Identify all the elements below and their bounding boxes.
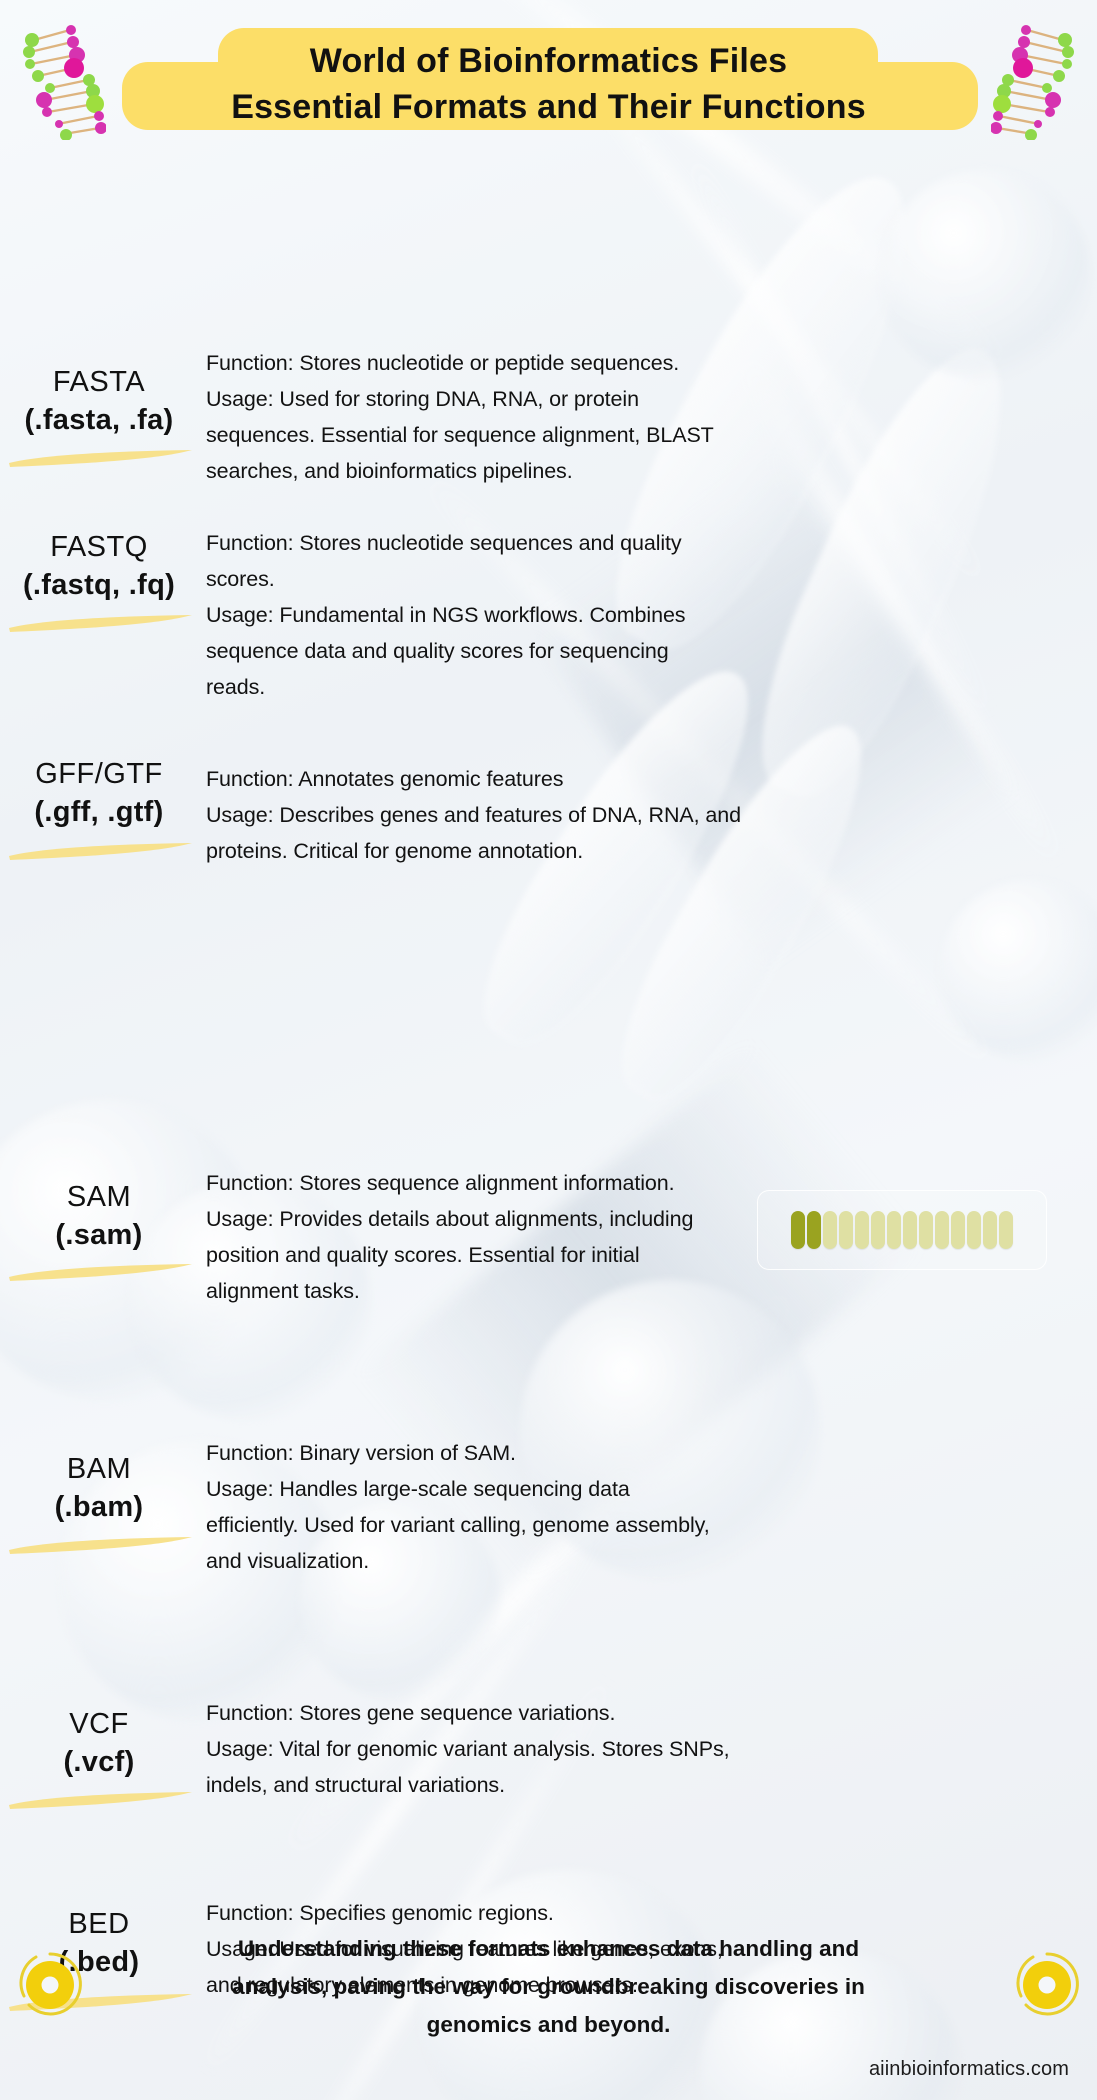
page-title-line2: Essential Formats and Their Functions <box>0 82 1097 132</box>
desc-line: and visualization. <box>206 1543 818 1579</box>
desc-line: Usage: Handles large-scale sequencing da… <box>206 1471 818 1507</box>
gel-well <box>839 1211 853 1249</box>
desc-line: proteins. Critical for genome annotation… <box>206 833 818 869</box>
desc-line: sequences. Essential for sequence alignm… <box>206 417 818 453</box>
desc-line: Function: Stores gene sequence variation… <box>206 1695 818 1731</box>
gel-well <box>935 1211 949 1249</box>
gel-well <box>999 1211 1013 1249</box>
desc-line: Function: Binary version of SAM. <box>206 1435 818 1471</box>
format-extension: (.vcf) <box>0 1743 198 1781</box>
format-description: Function: Binary version of SAM. Usage: … <box>206 1435 818 1579</box>
desc-line: Function: Stores nucleotide or peptide s… <box>206 345 818 381</box>
gel-well <box>823 1211 837 1249</box>
gel-well <box>967 1211 981 1249</box>
desc-line: Function: Annotates genomic features <box>206 761 818 797</box>
format-extension: (.fastq, .fq) <box>0 566 198 604</box>
gel-well <box>951 1211 965 1249</box>
ring-target-icon <box>14 1948 86 2020</box>
gel-well <box>919 1211 933 1249</box>
highlight-underline <box>6 612 196 634</box>
desc-line: searches, and bioinformatics pipelines. <box>206 453 818 489</box>
format-description: Function: Stores nucleotide sequences an… <box>206 525 818 705</box>
format-label-block: FASTQ (.fastq, .fq) <box>0 528 198 604</box>
format-section-fasta: FASTA (.fasta, .fa) Function: Stores nuc… <box>0 345 1097 515</box>
format-section-gff-gtf: GFF/GTF (.gff, .gtf) Function: Annotates… <box>0 755 1097 905</box>
format-description: Function: Stores nucleotide or peptide s… <box>206 345 818 489</box>
format-name: FASTQ <box>0 528 198 566</box>
format-description: Function: Stores sequence alignment info… <box>206 1165 818 1309</box>
desc-line: Function: Stores nucleotide sequences an… <box>206 525 818 561</box>
desc-line: scores. <box>206 561 818 597</box>
format-label-block: GFF/GTF (.gff, .gtf) <box>0 755 198 831</box>
format-label-block: SAM (.sam) <box>0 1178 198 1254</box>
gel-well <box>871 1211 885 1249</box>
highlight-underline <box>6 1534 196 1556</box>
header-banner: World of Bioinformatics Files Essential … <box>0 0 1097 150</box>
desc-line: Function: Specifies genomic regions. <box>206 1895 818 1931</box>
format-name: FASTA <box>0 363 198 401</box>
desc-line: reads. <box>206 669 818 705</box>
gel-well <box>983 1211 997 1249</box>
format-section-bam: BAM (.bam) Function: Binary version of S… <box>0 1435 1097 1595</box>
gel-well <box>791 1211 805 1249</box>
desc-line: efficiently. Used for variant calling, g… <box>206 1507 818 1543</box>
ring-target-icon <box>1011 1948 1083 2020</box>
format-label-block: FASTA (.fasta, .fa) <box>0 363 198 439</box>
footer-line: genomics and beyond. <box>109 2006 989 2044</box>
format-description: Function: Stores gene sequence variation… <box>206 1695 818 1803</box>
desc-line: Usage: Vital for genomic variant analysi… <box>206 1731 818 1767</box>
gel-well <box>887 1211 901 1249</box>
gel-electrophoresis-icon <box>757 1190 1047 1270</box>
format-section-vcf: VCF (.vcf) Function: Stores gene sequenc… <box>0 1695 1097 1845</box>
format-label-block: VCF (.vcf) <box>0 1705 198 1781</box>
gel-well <box>807 1211 821 1249</box>
format-name: VCF <box>0 1705 198 1743</box>
format-extension: (.bam) <box>0 1488 198 1526</box>
desc-line: Usage: Used for storing DNA, RNA, or pro… <box>206 381 818 417</box>
format-name: GFF/GTF <box>0 755 198 793</box>
highlight-underline <box>6 447 196 469</box>
desc-line: position and quality scores. Essential f… <box>206 1237 818 1273</box>
footer-line: Understanding these formats enhances dat… <box>109 1930 989 1968</box>
format-description: Function: Annotates genomic features Usa… <box>206 761 818 869</box>
format-extension: (.fasta, .fa) <box>0 401 198 439</box>
footer: Understanding these formats enhances dat… <box>0 1930 1097 2044</box>
desc-line: Usage: Provides details about alignments… <box>206 1201 818 1237</box>
desc-line: Usage: Describes genes and features of D… <box>206 797 818 833</box>
format-extension: (.sam) <box>0 1216 198 1254</box>
desc-line: indels, and structural variations. <box>206 1767 818 1803</box>
format-section-fastq: FASTQ (.fastq, .fq) Function: Stores nuc… <box>0 525 1097 715</box>
desc-line: sequence data and quality scores for seq… <box>206 633 818 669</box>
format-name: BAM <box>0 1450 198 1488</box>
desc-line: alignment tasks. <box>206 1273 818 1309</box>
page-title-line1: World of Bioinformatics Files <box>0 36 1097 86</box>
gel-well <box>855 1211 869 1249</box>
highlight-underline <box>6 1261 196 1283</box>
format-name: SAM <box>0 1178 198 1216</box>
desc-line: Usage: Fundamental in NGS workflows. Com… <box>206 597 818 633</box>
footer-message: Understanding these formats enhances dat… <box>109 1930 989 2044</box>
website-url[interactable]: aiinbioinformatics.com <box>869 2058 1069 2081</box>
desc-line: Function: Stores sequence alignment info… <box>206 1165 818 1201</box>
format-extension: (.gff, .gtf) <box>0 793 198 831</box>
highlight-underline <box>6 1789 196 1811</box>
highlight-underline <box>6 840 196 862</box>
format-label-block: BAM (.bam) <box>0 1450 198 1526</box>
gel-well <box>903 1211 917 1249</box>
footer-line: analysis, paving the way for groundbreak… <box>109 1968 989 2006</box>
